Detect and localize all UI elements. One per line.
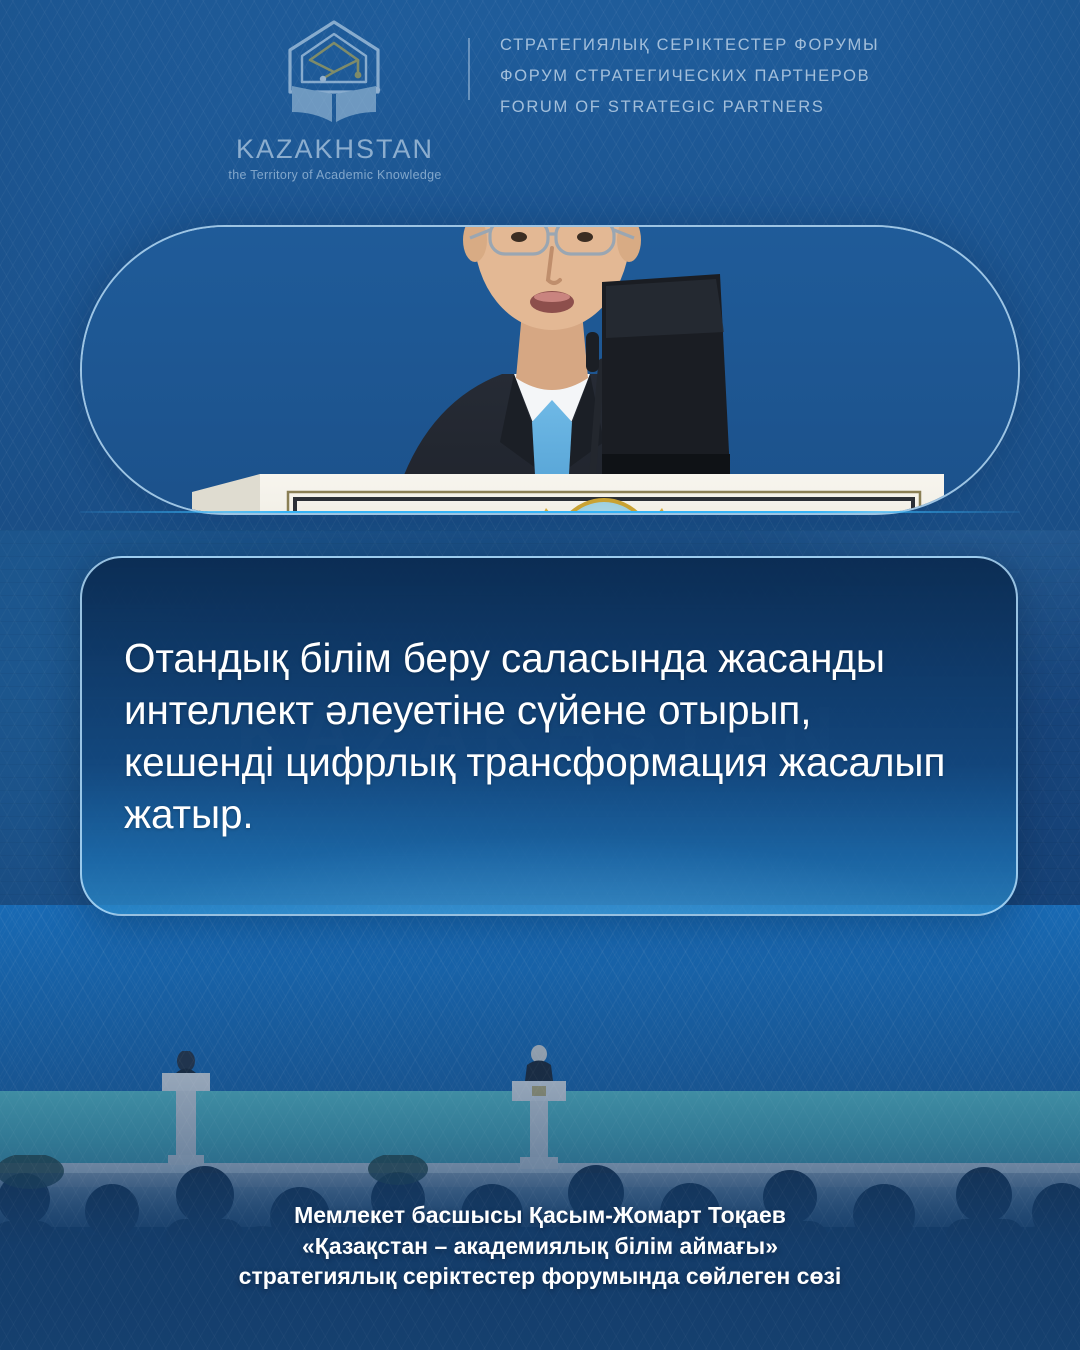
poster-canvas: KAZAKHSTAN the Territory of Academic Kno… bbox=[0, 0, 1080, 1350]
logo-wordmark: KAZAKHSTAN bbox=[226, 134, 444, 165]
event-logo: KAZAKHSTAN the Territory of Academic Kno… bbox=[226, 14, 444, 184]
logo-tagline: the Territory of Academic Knowledge bbox=[226, 168, 444, 182]
caption-block: Мемлекет басшысы Қасым-Жомарт Тоқаев «Қа… bbox=[0, 1200, 1080, 1292]
speaker-photo-card bbox=[80, 225, 1020, 515]
graduation-book-network-icon bbox=[274, 16, 394, 128]
quote-card: Отандық білім беру саласында жасанды инт… bbox=[80, 556, 1018, 916]
caption-line-1: Мемлекет басшысы Қасым-Жомарт Тоқаев bbox=[0, 1200, 1080, 1231]
caption-line-2: «Қазақстан – академиялық білім аймағы» bbox=[0, 1231, 1080, 1262]
quote-text: Отандық білім беру саласында жасанды инт… bbox=[124, 632, 966, 840]
banner-line-en: FORUM OF STRATEGIC PARTNERS bbox=[500, 92, 879, 123]
speaker-photo bbox=[82, 225, 1020, 515]
forum-banner-text: СТРАТЕГИЯЛЫҚ СЕРІКТЕСТЕР ФОРУМЫ ФОРУМ СТ… bbox=[500, 30, 879, 123]
banner-line-ru: ФОРУМ СТРАТЕГИЧЕСКИХ ПАРТНЕРОВ bbox=[500, 61, 879, 92]
speaker-card-accent-line bbox=[80, 511, 1020, 513]
banner-divider-rule bbox=[468, 38, 470, 100]
caption-line-3: стратегиялық серіктестер форумында сөйле… bbox=[0, 1261, 1080, 1292]
banner-line-kk: СТРАТЕГИЯЛЫҚ СЕРІКТЕСТЕР ФОРУМЫ bbox=[500, 30, 879, 61]
